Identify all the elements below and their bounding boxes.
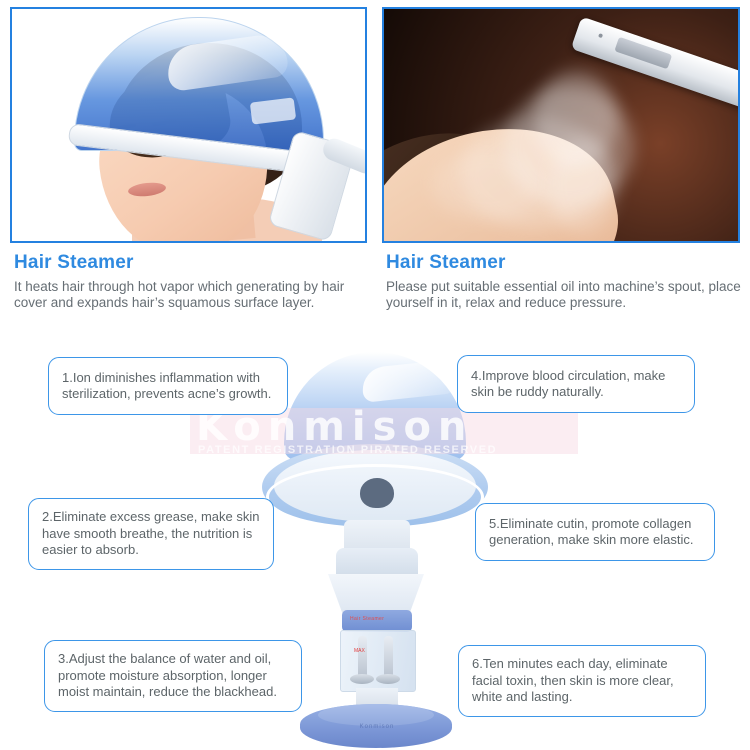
heating-rod-foot bbox=[376, 674, 400, 684]
product-sensor bbox=[360, 478, 394, 508]
feature-callout-5: 5.Eliminate cutin, promote collagen gene… bbox=[475, 503, 715, 561]
steam-cloud bbox=[534, 71, 618, 167]
product-photo-steam bbox=[382, 7, 740, 243]
feature-callout-4-text: 4.Improve blood circulation, make skin b… bbox=[471, 368, 681, 401]
product-water-tank bbox=[340, 630, 416, 692]
product-base-label: Konmison bbox=[340, 724, 414, 730]
wand-indicator-light bbox=[598, 33, 603, 38]
heating-rod bbox=[358, 636, 367, 678]
feature-callout-2-text: 2.Eliminate excess grease, make skin hav… bbox=[42, 509, 260, 559]
caption-left-title: Hair Steamer bbox=[14, 252, 372, 274]
feature-callout-4: 4.Improve blood circulation, make skin b… bbox=[457, 355, 695, 413]
caption-right-body: Please put suitable essential oil into m… bbox=[386, 279, 744, 311]
tank-max-label: MAX bbox=[354, 648, 365, 654]
caption-left-body: It heats hair through hot vapor which ge… bbox=[14, 279, 372, 311]
feature-callout-3: 3.Adjust the balance of water and oil, p… bbox=[44, 640, 302, 712]
product-photo-hood bbox=[10, 7, 367, 243]
feature-callout-3-text: 3.Adjust the balance of water and oil, p… bbox=[58, 651, 288, 701]
product-feature-page: Hair Steamer It heats hair through hot v… bbox=[0, 0, 750, 750]
caption-right-title: Hair Steamer bbox=[386, 252, 744, 274]
feature-callout-5-text: 5.Eliminate cutin, promote collagen gene… bbox=[489, 516, 701, 549]
dome-highlight-secondary bbox=[250, 97, 296, 124]
heating-rod bbox=[384, 636, 393, 678]
feature-callout-1: 1.Ion diminishes inflammation with steri… bbox=[48, 357, 288, 415]
caption-left: Hair Steamer It heats hair through hot v… bbox=[14, 252, 372, 311]
watermark-subtitle: PATENT REGISTRATION PIRATED RESERVED bbox=[198, 444, 497, 456]
product-dome-highlight bbox=[360, 359, 455, 402]
heating-rod-foot bbox=[350, 674, 374, 684]
feature-callout-6-text: 6.Ten minutes each day, eliminate facial… bbox=[472, 656, 692, 706]
product-collar-label: Hair Steamer bbox=[350, 616, 404, 624]
feature-callout-2: 2.Eliminate excess grease, make skin hav… bbox=[28, 498, 274, 570]
feature-callout-6: 6.Ten minutes each day, eliminate facial… bbox=[458, 645, 706, 717]
caption-right: Hair Steamer Please put suitable essenti… bbox=[386, 252, 744, 311]
dome-highlight bbox=[165, 32, 290, 92]
feature-callout-1-text: 1.Ion diminishes inflammation with steri… bbox=[62, 370, 274, 403]
product-base-top bbox=[318, 704, 434, 726]
